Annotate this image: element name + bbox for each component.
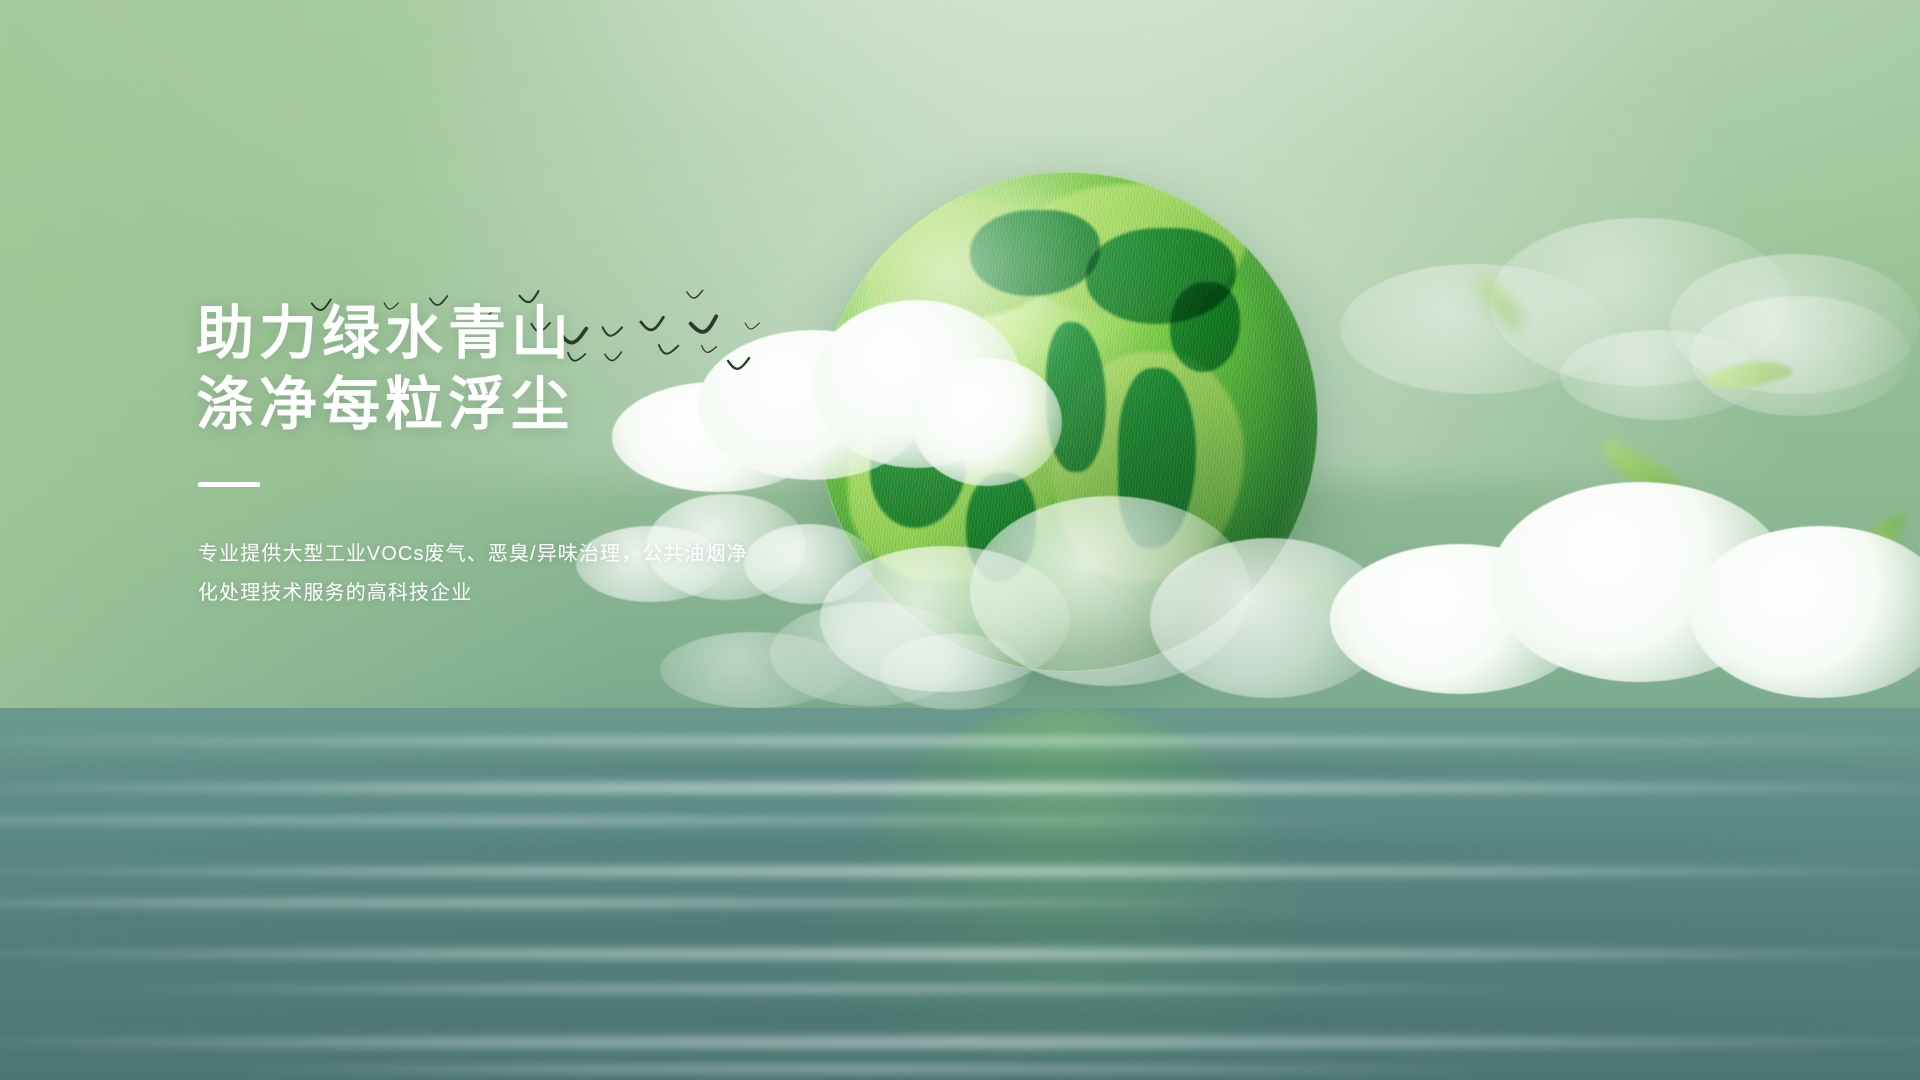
water-wave <box>0 1036 1920 1049</box>
hero-subcopy: 专业提供大型工业VOCs废气、恶臭/异味治理，公共油烟净化处理技术服务的高科技企… <box>198 535 758 613</box>
water-wave <box>0 948 1920 960</box>
water-wave <box>0 760 1920 774</box>
water-surface <box>0 708 1920 1080</box>
water-wave <box>0 866 1920 877</box>
water-wave <box>192 1064 1536 1074</box>
water-wave <box>0 922 1920 940</box>
water-wave <box>0 736 1920 746</box>
hero-copy-block: 助力绿水青山 涤净每粒浮尘 专业提供大型工业VOCs废气、恶臭/异味治理，公共油… <box>196 302 916 613</box>
water-wave <box>77 984 1575 994</box>
page-title: 助力绿水青山 涤净每粒浮尘 <box>196 302 916 438</box>
water-wave <box>0 782 1920 794</box>
title-divider <box>198 482 260 487</box>
headline-line-2: 涤净每粒浮尘 <box>196 373 916 438</box>
eco-banner-hero: 助力绿水青山 涤净每粒浮尘 专业提供大型工业VOCs废气、恶臭/异味治理，公共油… <box>0 0 1920 1080</box>
water-wave <box>0 840 1920 856</box>
water-wave <box>0 1008 1920 1024</box>
headline-line-1: 助力绿水青山 <box>196 301 574 366</box>
